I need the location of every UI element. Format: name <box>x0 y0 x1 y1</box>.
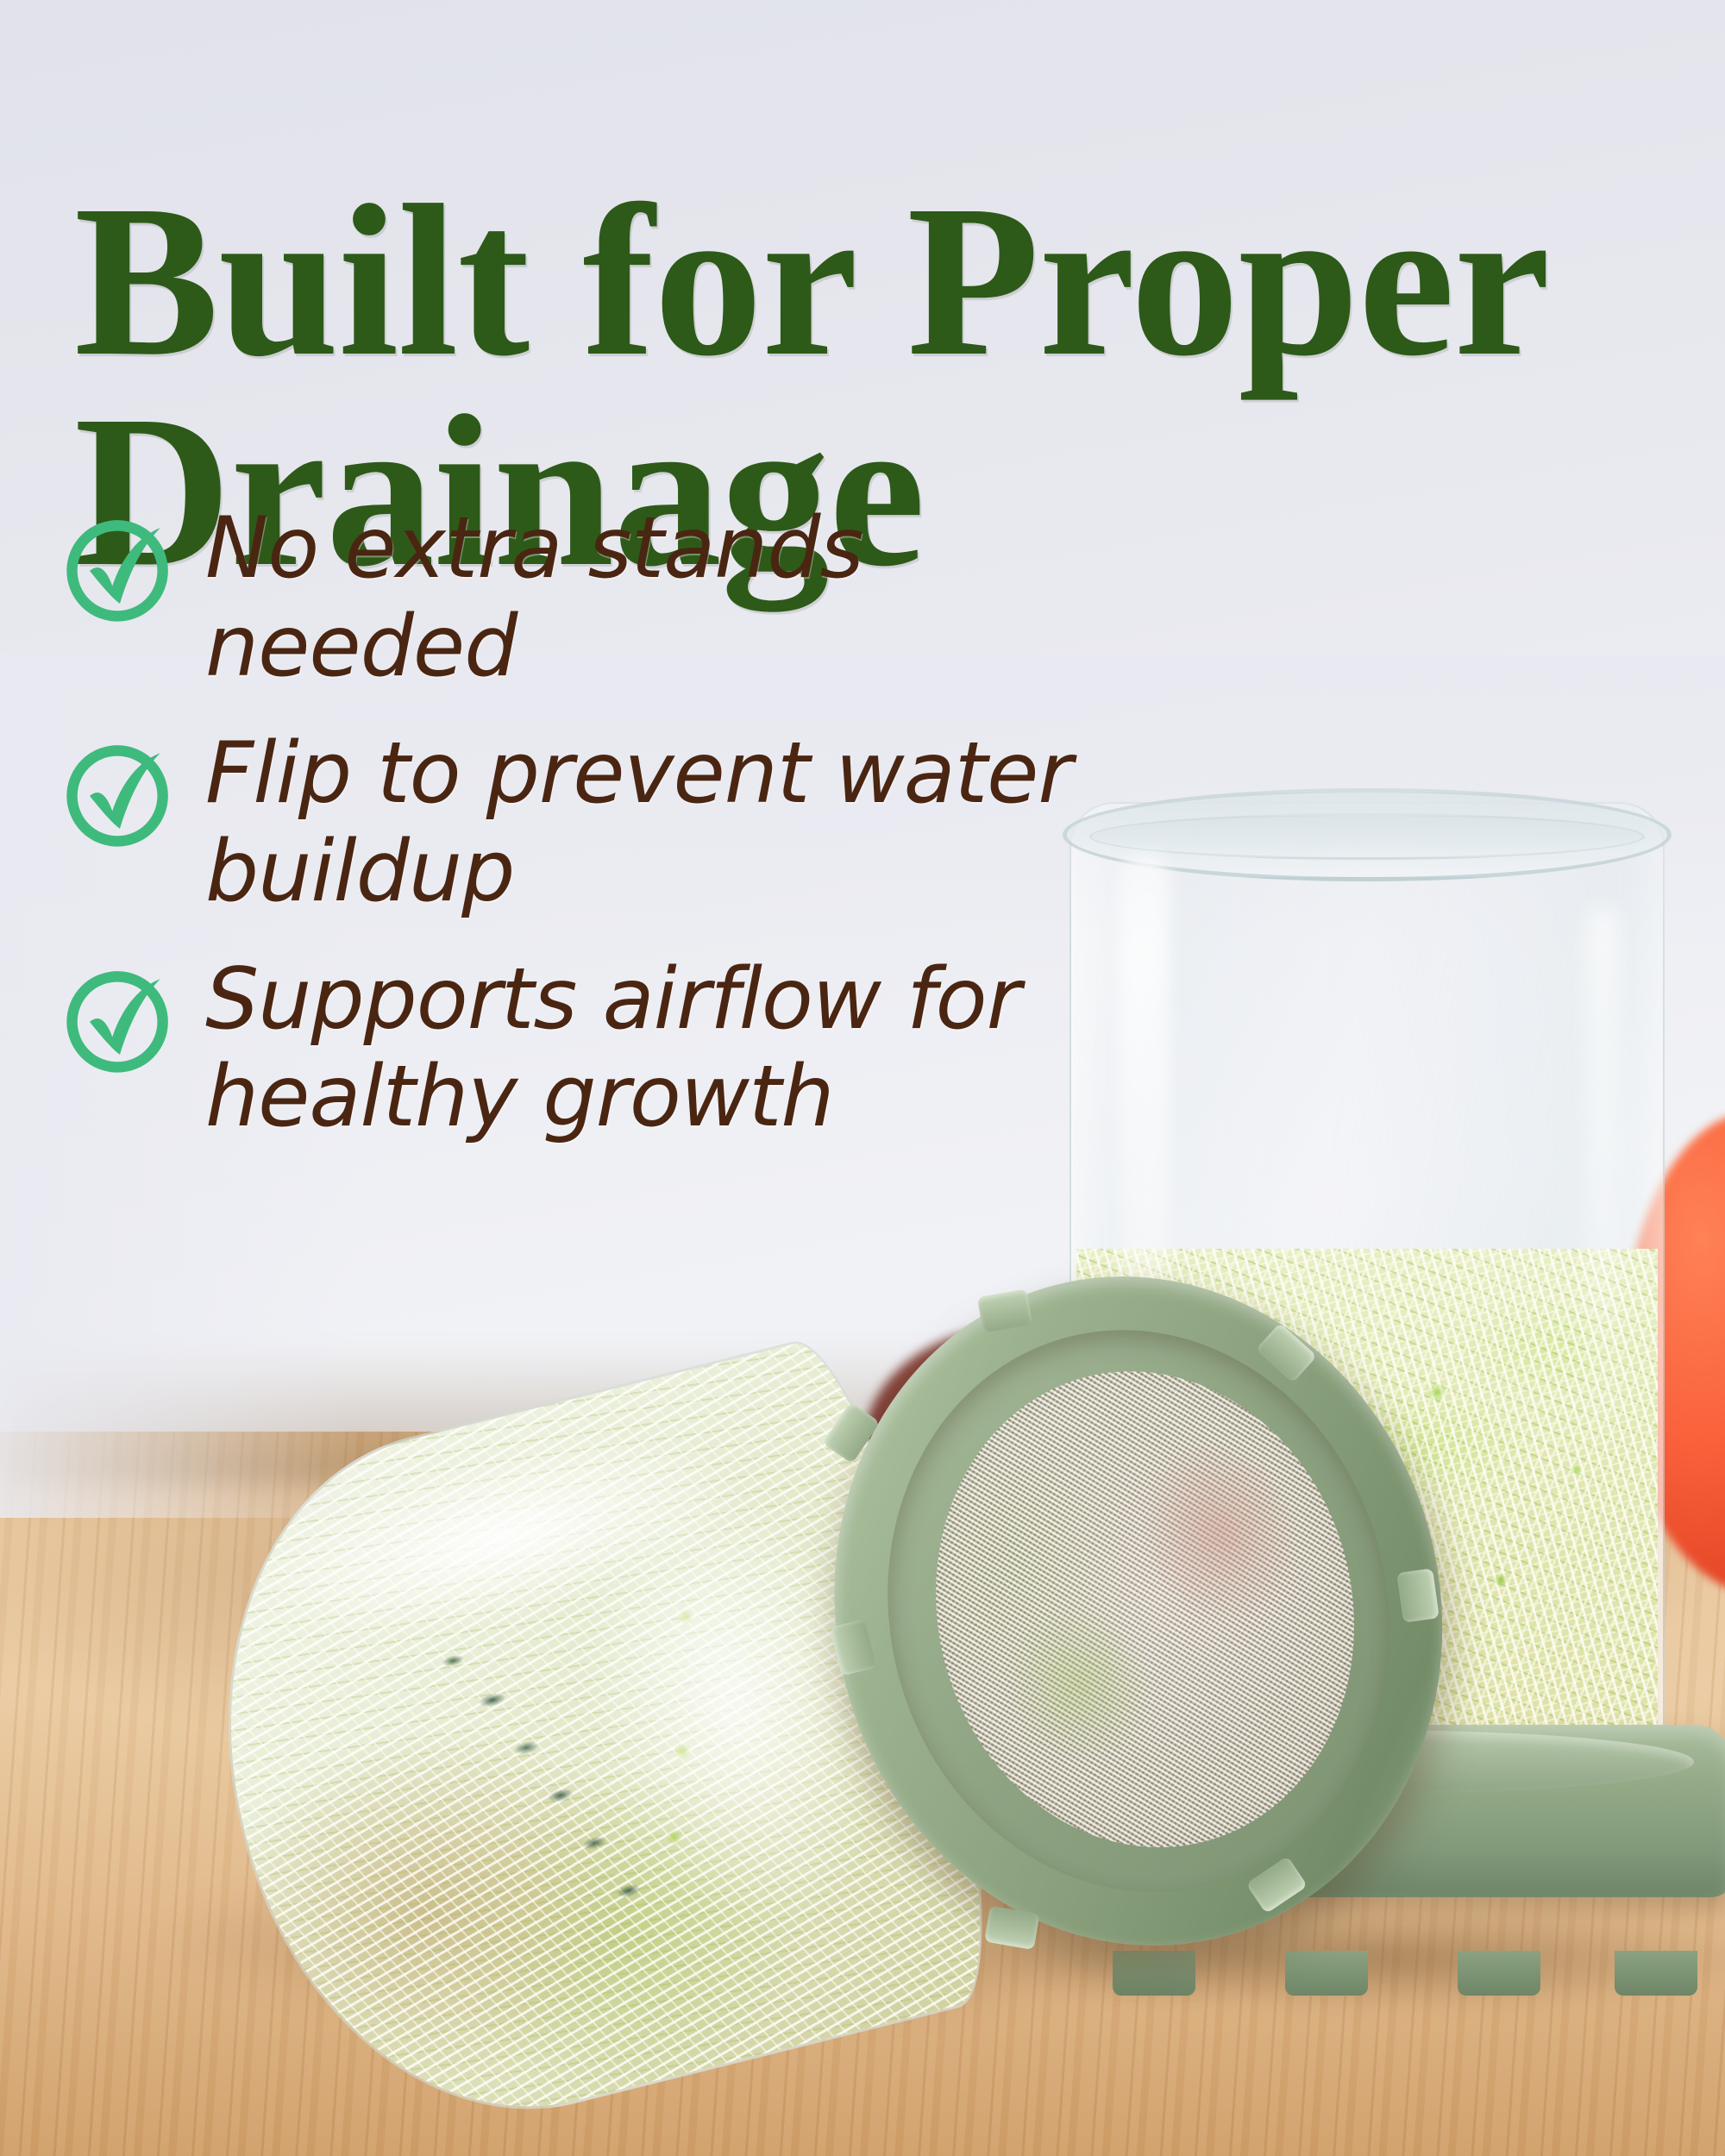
benefit-list: No extra stands needed Flip to prevent w… <box>57 500 1118 1176</box>
list-item: No extra stands needed <box>57 500 1118 696</box>
check-circle-icon <box>57 730 183 856</box>
list-item: Supports airflow for healthy growth <box>57 951 1118 1147</box>
benefit-label: No extra stands needed <box>183 500 1118 696</box>
check-circle-icon <box>57 956 183 1082</box>
poster-text-layer: Built for Proper Drainage No extra stand… <box>0 0 1725 2156</box>
benefit-label: Flip to prevent water buildup <box>183 725 1118 921</box>
benefit-label: Supports airflow for healthy growth <box>183 951 1118 1147</box>
check-circle-icon <box>57 505 183 631</box>
product-feature-poster: Built for Proper Drainage No extra stand… <box>0 0 1725 2156</box>
list-item: Flip to prevent water buildup <box>57 725 1118 921</box>
